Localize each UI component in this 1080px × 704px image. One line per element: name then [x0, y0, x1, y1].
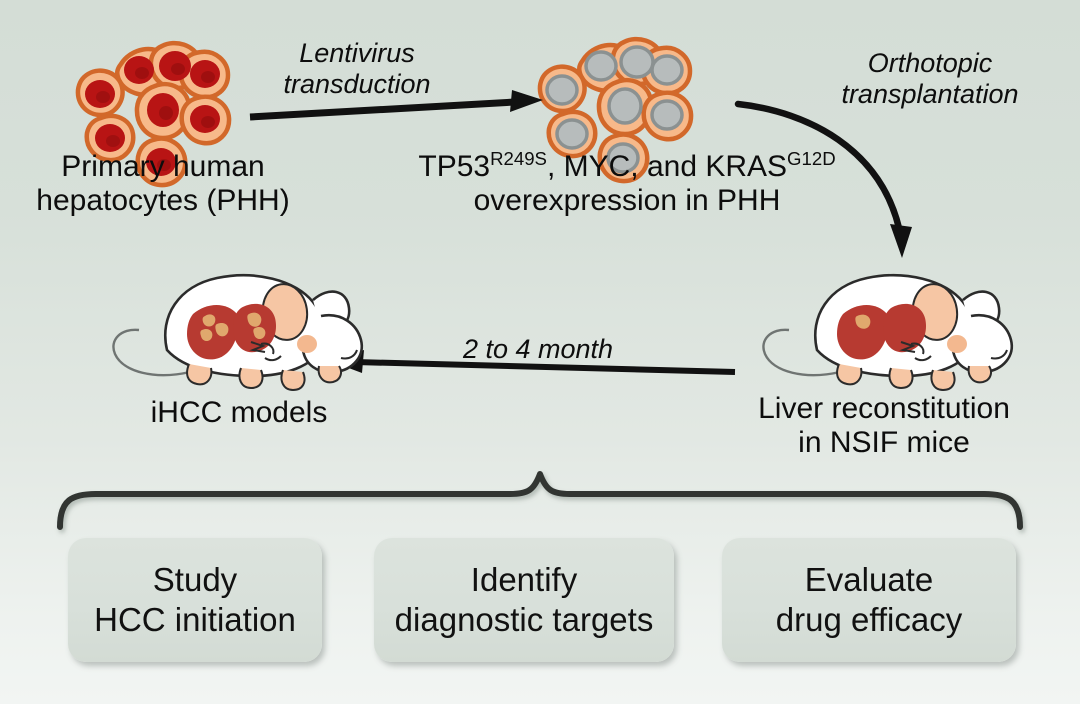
lentivirus-transduction-label: Lentivirus transduction [283, 38, 430, 100]
mouse-reconstituted-liver-icon [763, 275, 1011, 390]
kras-mutation-superscript: G12D [787, 148, 836, 169]
card-line-2: drug efficacy [776, 600, 963, 640]
applications-brace [60, 474, 1020, 527]
tp53-mutation-superscript: R249S [490, 148, 547, 169]
card-line-2: diagnostic targets [395, 600, 654, 640]
liver-with-tumors [187, 304, 276, 359]
application-card-study-hcc-initiation[interactable]: Study HCC initiation [68, 538, 322, 662]
card-line-1: Study [94, 560, 296, 600]
liver-reconstituted [837, 304, 926, 359]
application-card-identify-diagnostic-targets[interactable]: Identify diagnostic targets [374, 538, 674, 662]
mouse-ihcc-tumor-icon [113, 275, 361, 390]
myc-kras-label: , MYC, and KRAS [547, 150, 787, 183]
phh-label: Primary human hepatocytes (PHH) [36, 150, 289, 218]
figure-canvas: Primary human hepatocytes (PHH) Lentivir… [0, 0, 1080, 704]
liver-reconstitution-label: Liver reconstitution in NSIF mice [758, 392, 1010, 460]
oncogene-overexpression-label: TP53R249S, MYC, and KRASG12D overexpress… [387, 150, 867, 218]
application-card-evaluate-drug-efficacy[interactable]: Evaluate drug efficacy [722, 538, 1016, 662]
tp53-label: TP53 [418, 150, 490, 183]
orthotopic-transplantation-label: Orthotopic transplantation [841, 48, 1018, 110]
overexpression-label: overexpression in PHH [387, 184, 867, 218]
incubation-time-label: 2 to 4 month [463, 334, 613, 365]
card-line-2: HCC initiation [94, 600, 296, 640]
ihcc-models-label: iHCC models [151, 396, 328, 430]
card-line-1: Identify [395, 560, 654, 600]
card-line-1: Evaluate [776, 560, 963, 600]
